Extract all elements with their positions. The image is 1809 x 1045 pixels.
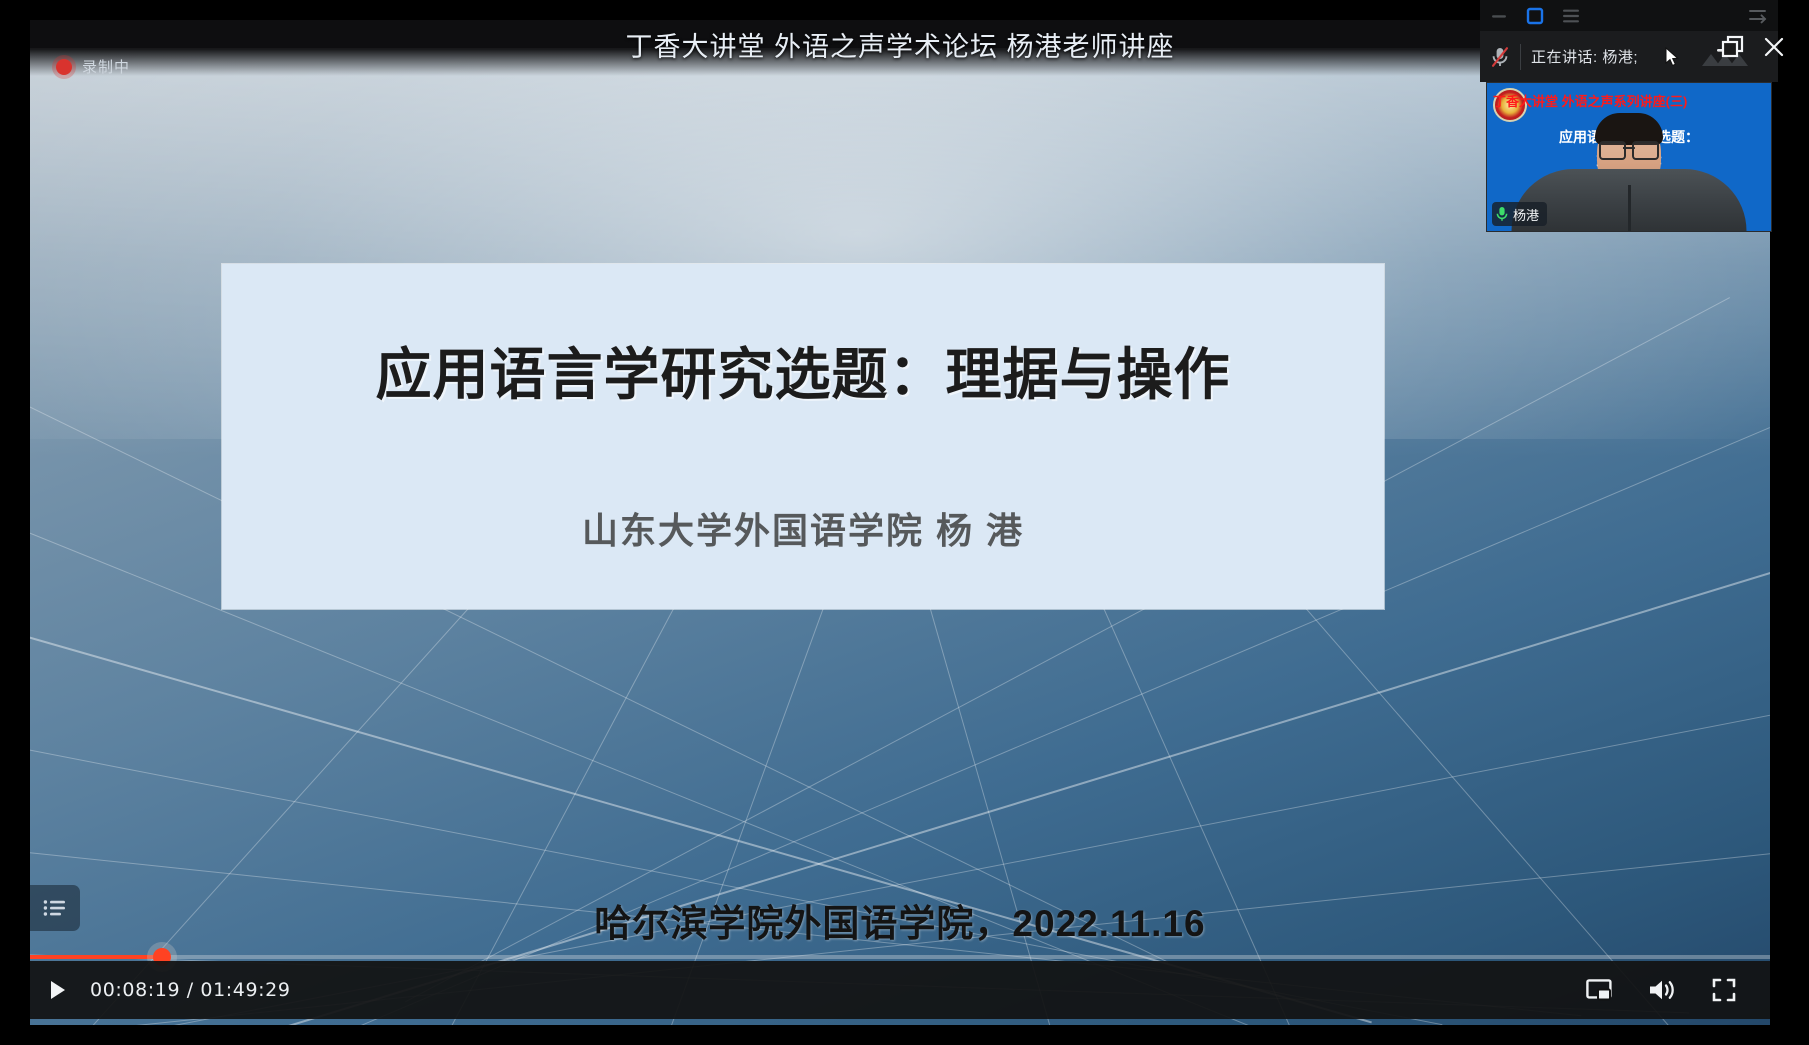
slide-affiliation: 山东大学外国语学院 杨 港 — [222, 502, 1384, 554]
progress-bar-fill — [30, 955, 162, 959]
participant-name: 杨港 — [1513, 205, 1539, 224]
collapse-panel-icon[interactable] — [1748, 8, 1768, 24]
hamburger-menu-icon[interactable] — [1562, 8, 1580, 24]
recording-label: 录制中 — [82, 56, 130, 77]
participant-name-badge: 杨港 — [1492, 202, 1547, 226]
restore-window-icon[interactable] — [1720, 34, 1746, 60]
meeting-window-chrome — [1480, 0, 1778, 31]
microphone-active-icon — [1496, 206, 1508, 222]
screen: 应用语言学研究选题：理据与操作 山东大学外国语学院 杨 港 哈尔滨学院外国语学院… — [0, 0, 1809, 1045]
meeting-window-buttons — [1720, 34, 1786, 60]
minimize-icon[interactable] — [1490, 9, 1508, 23]
slide-title-panel: 应用语言学研究选题：理据与操作 山东大学外国语学院 杨 港 — [222, 264, 1384, 609]
close-icon[interactable] — [1762, 35, 1786, 59]
control-bar: 00:08:19 / 01:49:29 — [30, 961, 1770, 1019]
slide-title: 应用语言学研究选题：理据与操作 — [222, 330, 1384, 411]
volume-icon[interactable] — [1648, 978, 1676, 1002]
record-dot-icon — [56, 59, 72, 75]
maximize-icon[interactable] — [1526, 7, 1544, 25]
microphone-muted-icon[interactable] — [1490, 46, 1510, 68]
picture-in-picture-icon[interactable] — [1586, 978, 1612, 1002]
cursor-pointer-icon — [1664, 47, 1680, 67]
presenter-video-thumbnail[interactable]: 丁香大讲堂 外语之声系列讲座(三) 应用语言学研究选题： 理据与操作 — [1486, 82, 1772, 232]
slide-footer: 哈尔滨学院外国语学院，2022.11.16 — [30, 893, 1770, 947]
time-display: 00:08:19 / 01:49:29 — [90, 979, 291, 1001]
presenter-glasses — [1599, 141, 1659, 156]
playlist-icon — [43, 899, 67, 917]
progress-bar-track[interactable] — [30, 955, 1770, 959]
play-icon — [49, 980, 67, 1000]
control-bar-right — [1586, 978, 1770, 1002]
speaking-status-label: 正在讲话: 杨港; — [1531, 46, 1638, 67]
meeting-floating-window[interactable]: 正在讲话: 杨港; 丁香大讲堂 外语之声系列讲座(三) 应用语言学研究选题： 理… — [1480, 0, 1778, 232]
play-button[interactable] — [30, 961, 86, 1019]
video-slide-banner: 丁香大讲堂 外语之声系列讲座(三) — [1493, 91, 1767, 110]
recording-indicator: 录制中 — [56, 56, 130, 77]
fullscreen-icon[interactable] — [1712, 978, 1736, 1002]
playlist-button[interactable] — [30, 885, 80, 931]
player-controls[interactable]: 00:08:19 / 01:49:29 — [30, 961, 1770, 1025]
